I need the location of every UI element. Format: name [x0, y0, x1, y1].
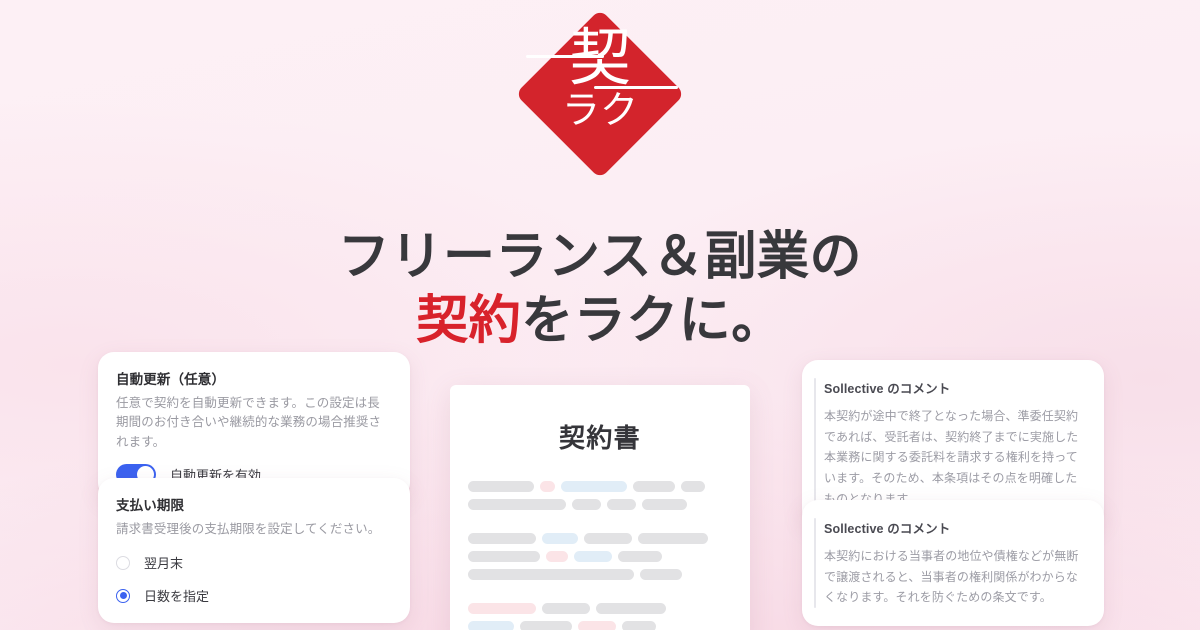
comment-1-body: 本契約が途中で終了となった場合、準委任契約であれば、受託者は、契約終了までに実施…: [824, 406, 1086, 509]
payment-due-description: 請求書受理後の支払期限を設定してください。: [116, 520, 392, 539]
headline-line-2: 契約をラクに。: [0, 289, 1200, 353]
comment-card-2: Sollective のコメント 本契約における当事者の地位や債権などが無断で譲…: [802, 500, 1104, 626]
document-skeleton-bar: [596, 603, 666, 614]
document-skeleton-bar: [574, 551, 612, 562]
document-skeleton-bar: [607, 499, 636, 510]
document-skeleton-bar: [584, 533, 632, 544]
comment-2-body: 本契約における当事者の地位や債権などが無断で譲渡されると、当事者の権利関係がわか…: [824, 546, 1086, 608]
document-skeleton-row: [468, 551, 732, 562]
payment-due-option-1[interactable]: 日数を指定: [116, 586, 392, 605]
document-skeleton-bar: [468, 569, 634, 580]
logo-glyph-group: 契 ラク: [514, 8, 686, 180]
document-skeleton-bar: [546, 551, 568, 562]
logo-kanji-text: 契: [514, 28, 686, 90]
payment-due-option-0-label: 翌月末: [144, 553, 183, 572]
headline-highlight: 契約: [416, 292, 521, 350]
document-skeleton-bar: [468, 603, 536, 614]
comment-1-title: Sollective のコメント: [824, 378, 1086, 397]
document-skeleton-row: [468, 569, 732, 580]
page-title: フリーランス＆副業の 契約をラクに。: [0, 225, 1200, 354]
headline-line-2-rest: をラクに。: [521, 292, 784, 350]
headline-line-1: フリーランス＆副業の: [338, 228, 862, 286]
payment-due-option-0[interactable]: 翌月末: [116, 553, 392, 572]
document-skeleton-bar: [642, 499, 687, 510]
og-image-canvas: 契 ラク フリーランス＆副業の 契約をラクに。 自動更新（任意） 任意で契約を自…: [0, 0, 1200, 630]
logo-stroke-mid-icon: [594, 86, 678, 89]
document-skeleton-row: [468, 533, 732, 544]
document-skeleton-bar: [520, 621, 572, 630]
comment-accent-bar: [814, 518, 816, 608]
brand-logo: 契 ラク: [514, 8, 686, 180]
document-skeleton-row: [468, 587, 732, 596]
document-skeleton-bar: [468, 481, 534, 492]
document-skeleton-bar: [618, 551, 662, 562]
document-skeleton-bar: [468, 499, 566, 510]
document-skeleton-row: [468, 603, 732, 614]
radio-unselected-icon[interactable]: [116, 556, 130, 570]
contract-document-preview: 契約書: [450, 385, 750, 630]
payment-due-option-1-label: 日数を指定: [144, 586, 209, 605]
document-skeleton-row: [468, 499, 732, 510]
document-skeleton-bar: [638, 533, 708, 544]
payment-due-title: 支払い期限: [116, 494, 392, 514]
document-skeleton-row: [468, 621, 732, 630]
payment-due-setting-card: 支払い期限 請求書受理後の支払期限を設定してください。 翌月末 日数を指定: [98, 478, 410, 623]
document-skeleton-bar: [561, 481, 627, 492]
document-skeleton-bar: [468, 551, 540, 562]
radio-selected-icon[interactable]: [116, 589, 130, 603]
document-skeleton-bar: [540, 481, 555, 492]
document-skeleton-bar: [578, 621, 616, 630]
comment-2-title: Sollective のコメント: [824, 518, 1086, 537]
comment-accent-bar: [814, 378, 816, 509]
document-skeleton-bar: [468, 533, 536, 544]
logo-stroke-top-icon: [526, 55, 604, 58]
document-skeleton-bar: [542, 533, 578, 544]
document-skeleton-bar: [633, 481, 675, 492]
document-skeleton-bar: [640, 569, 682, 580]
logo-kana-text: ラク: [514, 92, 686, 130]
auto-renew-description: 任意で契約を自動更新できます。この設定は長期間のお付き合いや継続的な業務の場合推…: [116, 394, 392, 452]
document-skeleton-row: [468, 517, 732, 526]
document-skeleton-lines: [450, 481, 750, 630]
auto-renew-title: 自動更新（任意）: [116, 368, 392, 388]
document-skeleton-bar: [572, 499, 601, 510]
document-skeleton-bar: [681, 481, 705, 492]
document-skeleton-bar: [542, 603, 590, 614]
document-skeleton-bar: [468, 621, 514, 630]
document-skeleton-row: [468, 481, 732, 492]
document-skeleton-bar: [622, 621, 656, 630]
document-title: 契約書: [450, 418, 750, 455]
